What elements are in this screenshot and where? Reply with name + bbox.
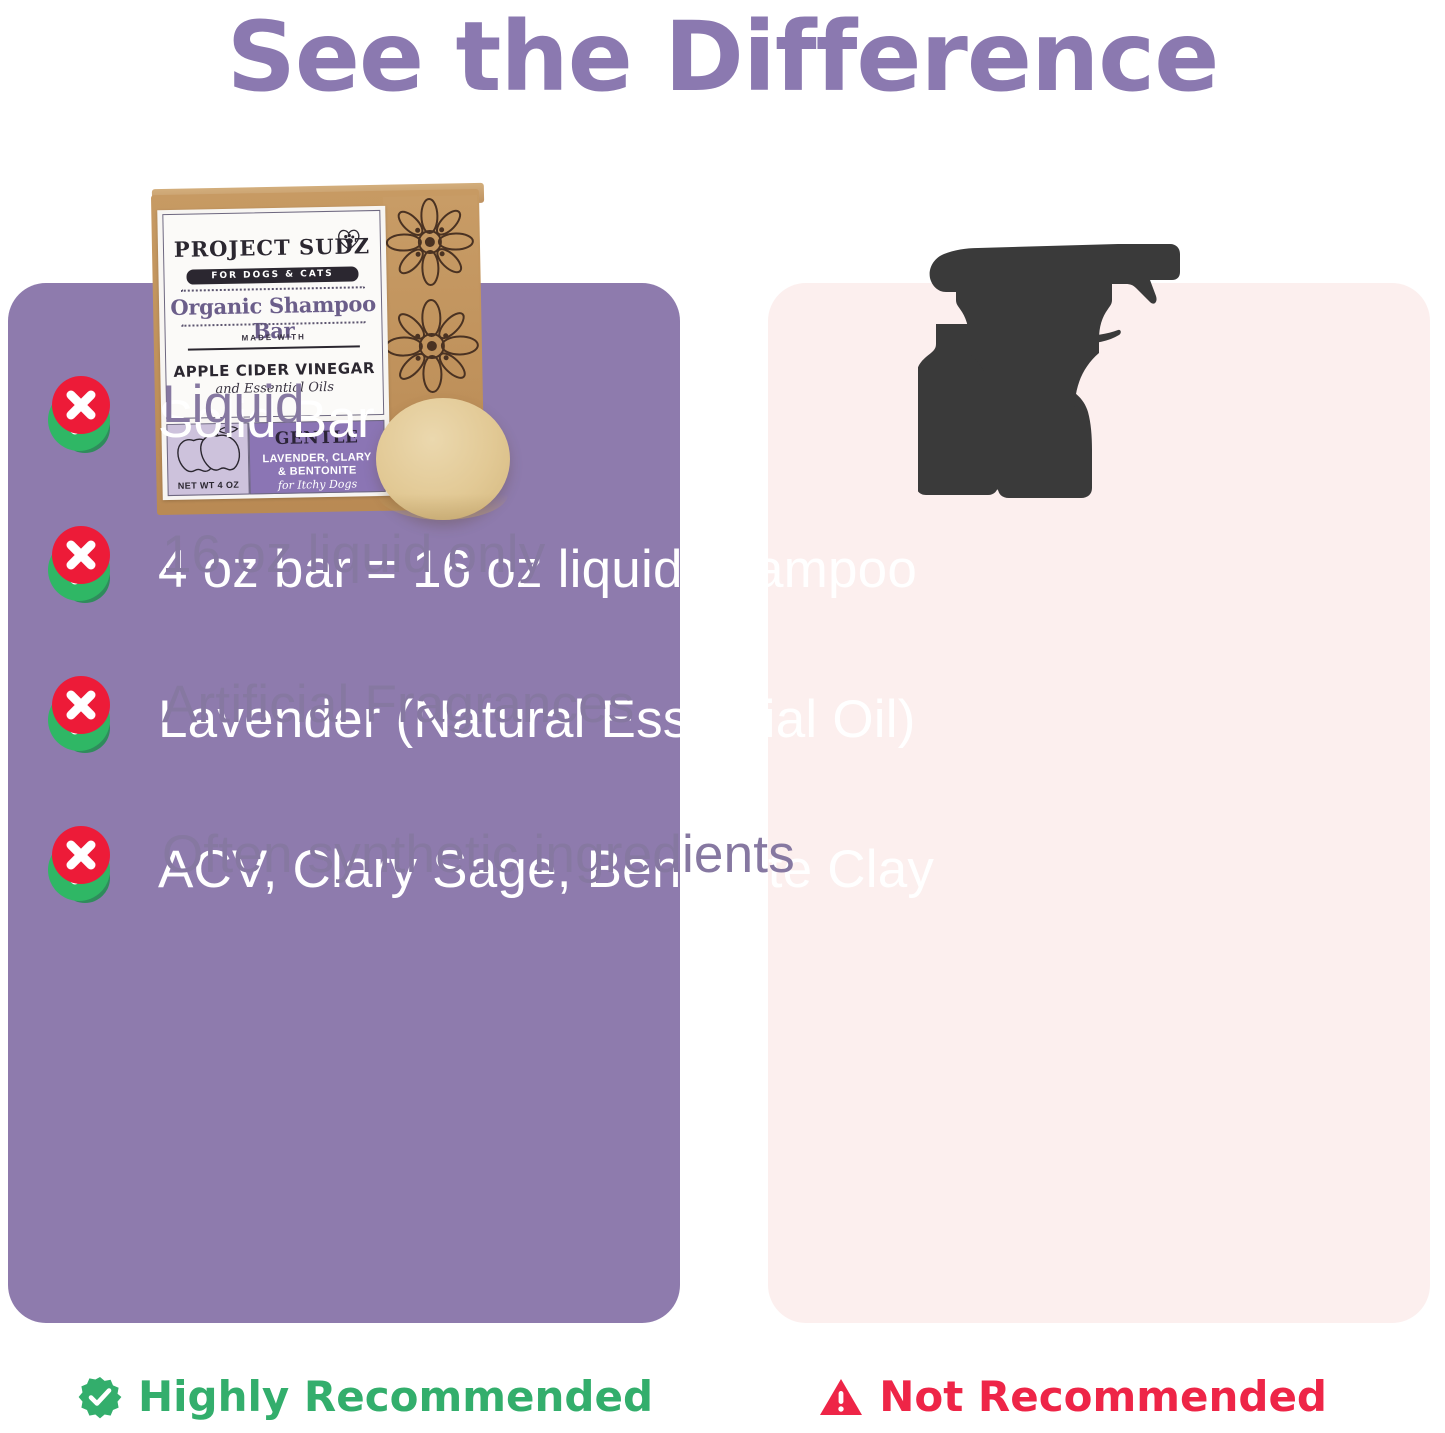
page-title: See the Difference [0,4,1445,112]
list-item: Liquid [52,330,1415,480]
list-item-label: Artificial Fragrances [162,675,1415,736]
x-circle-icon [52,826,110,884]
footer-highly-recommended: Highly Recommended [78,1372,653,1421]
badge-cell [52,526,162,584]
list-item-label: 16 oz liquid only [162,525,1415,586]
list-item: Artificial Fragrances [52,630,1415,780]
list-item-label: Often synthetic ingredients [162,825,1415,886]
badge-cell [52,676,162,734]
list-item: 16 oz liquid only [52,480,1415,630]
verified-seal-icon [78,1375,122,1419]
badge-cell [52,376,162,434]
warning-triangle-icon [819,1377,863,1417]
not-recommended-feature-list: Liquid 16 oz liquid only Artificial Frag… [0,330,1445,930]
footer-label: Highly Recommended [138,1372,653,1421]
x-circle-icon [52,676,110,734]
footer-not-recommended: Not Recommended [819,1372,1327,1421]
heart-paw-icon [336,227,362,251]
footer-label: Not Recommended [879,1372,1327,1421]
badge-cell [52,826,162,884]
label-audience: FOR DOGS & CATS [186,266,358,284]
list-item: Often synthetic ingredients [52,780,1415,930]
list-item-label: Liquid [162,375,1415,436]
x-circle-icon [52,376,110,434]
x-circle-icon [52,526,110,584]
